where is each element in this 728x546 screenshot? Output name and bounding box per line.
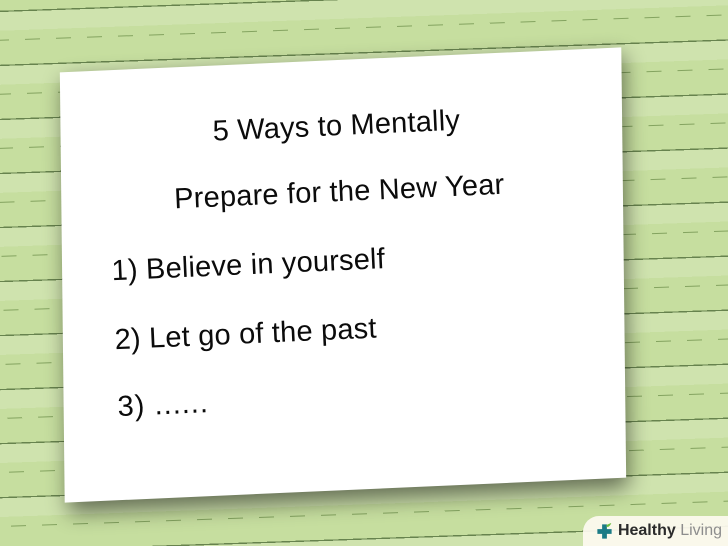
brand-watermark-text: Healthy Living (618, 523, 722, 539)
note-card: 5 Ways to Mentally Prepare for the New Y… (60, 47, 626, 502)
brand-name-secondary: Living (676, 522, 722, 539)
note-list-item-2: 2) Let go of the past (88, 305, 603, 357)
note-list-item-3: 3) ...... (91, 371, 606, 423)
brand-name-primary: Healthy (618, 522, 676, 539)
note-title-line-1: 5 Ways to Mentally (79, 101, 594, 153)
note-title-line-2: Prepare for the New Year (82, 167, 597, 219)
note-card-content: 5 Ways to Mentally Prepare for the New Y… (53, 48, 634, 503)
medical-cross-leaf-icon (595, 522, 614, 541)
dash-line (0, 11, 728, 44)
brand-watermark: Healthy Living (583, 516, 728, 546)
note-list-item-1: 1) Believe in yourself (85, 236, 600, 288)
screenshot-root: 5 Ways to Mentally Prepare for the New Y… (0, 0, 728, 546)
